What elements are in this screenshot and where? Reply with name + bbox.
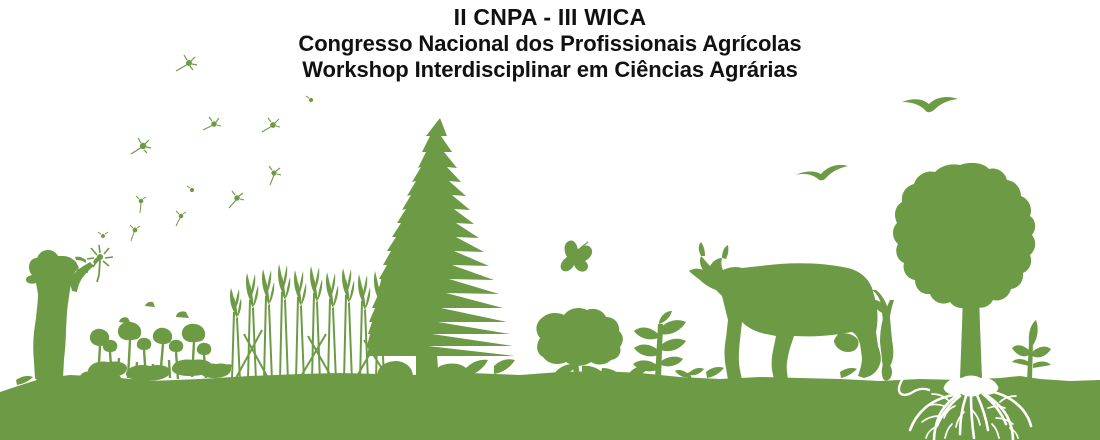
cow-udder [834,333,859,352]
corn-stem [1027,342,1033,380]
tree-canopy [893,163,1035,308]
bird-upper [902,97,958,112]
flower-cluster [80,302,231,381]
wheat-field [230,264,388,381]
cow-body [689,256,881,380]
bird-flying [795,97,958,180]
tree-trunk [960,292,982,378]
child-body [26,250,79,386]
pine-foliage [367,118,515,378]
corn-seedling [1012,320,1051,380]
shrub [536,308,622,382]
butterfly [561,240,593,271]
cow-horn-left [699,242,705,256]
dandelion-seeds [98,55,313,241]
cow [689,242,893,381]
landscape-illustration [0,0,1100,440]
event-banner: II CNPA - III WICA Congresso Nacional do… [0,0,1100,440]
bird-lower [795,165,848,181]
pine-tree [367,118,515,382]
cow-horn-right [722,245,728,259]
shrub-canopy [536,308,622,366]
